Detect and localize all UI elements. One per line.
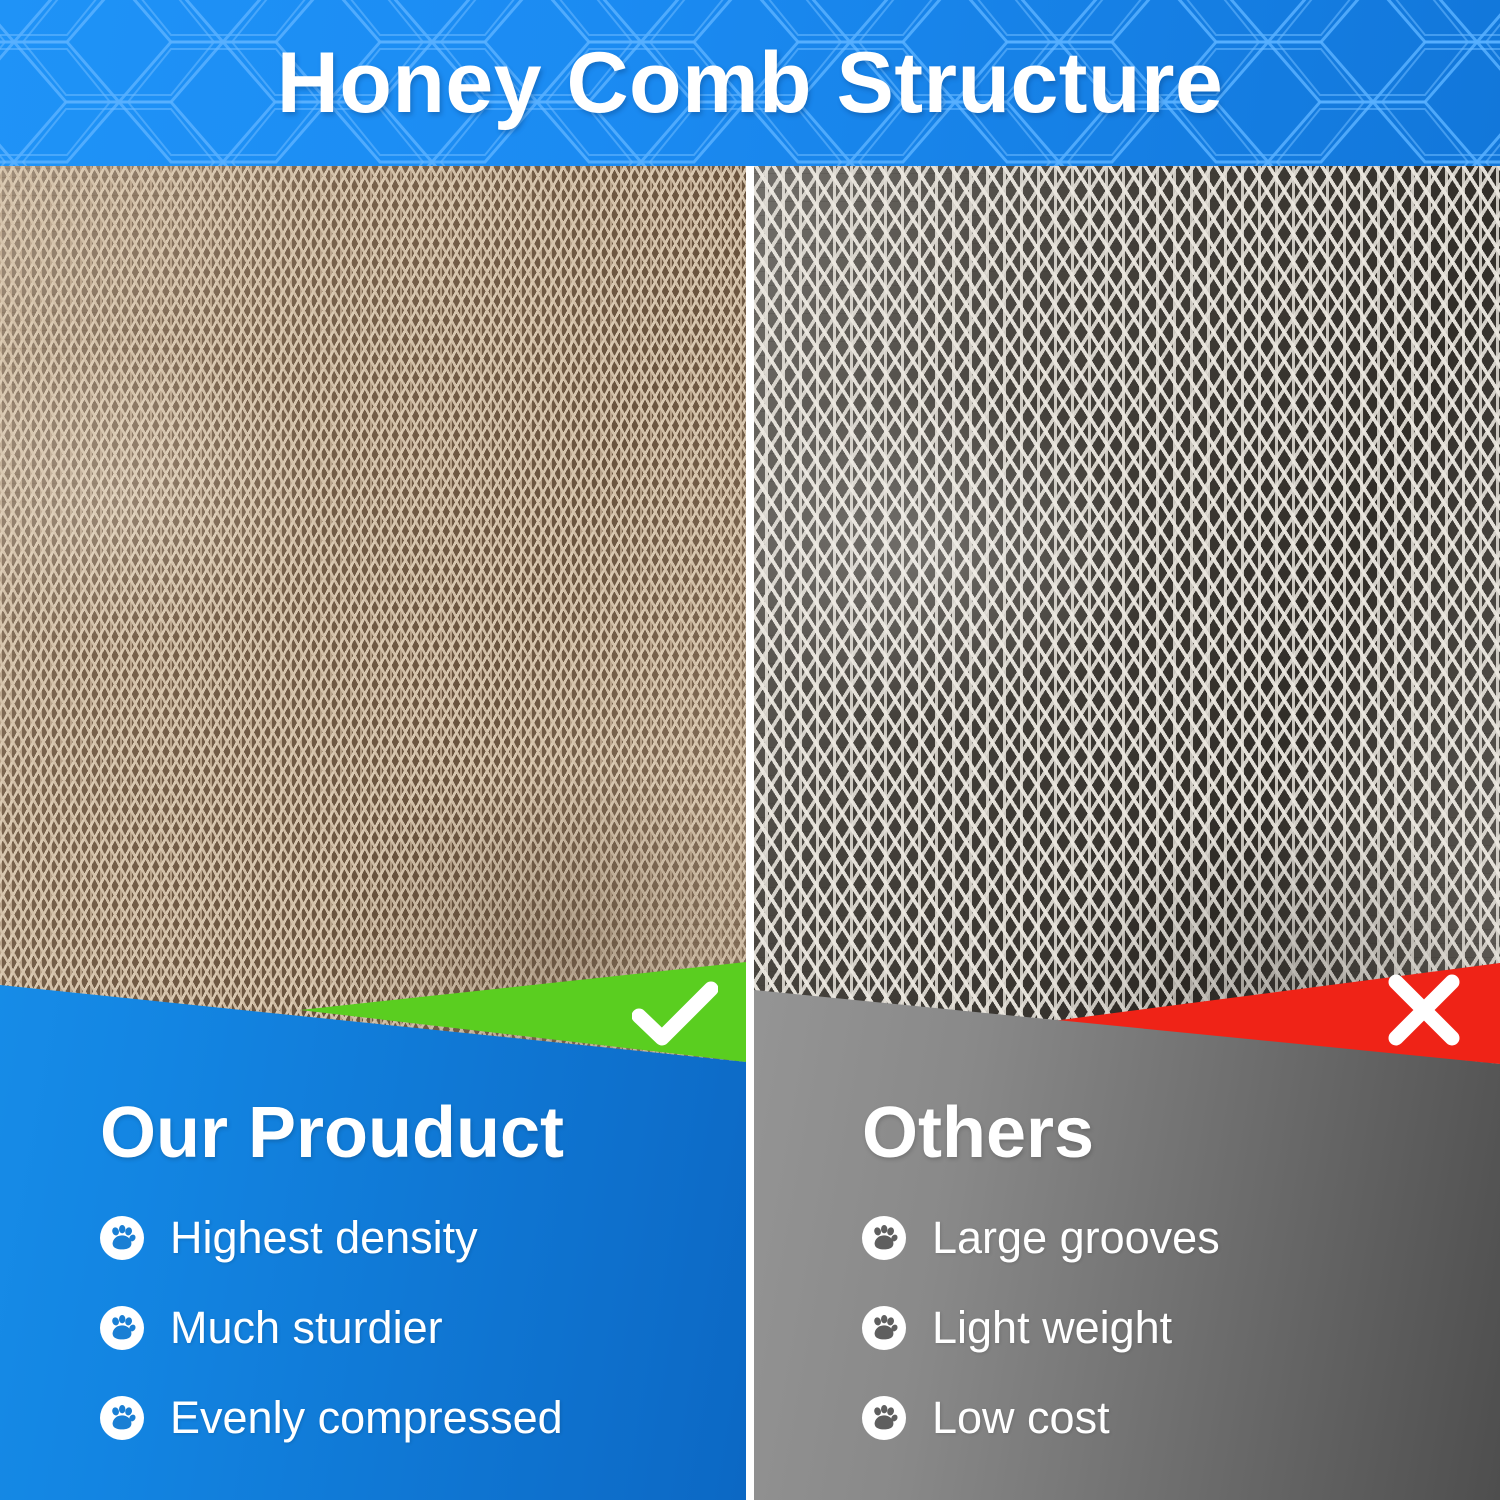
- others-feature-list: Large grooves Light weight: [862, 1212, 1472, 1444]
- list-item-label: Low cost: [932, 1392, 1110, 1444]
- check-icon: [632, 980, 718, 1050]
- list-item: Evenly compressed: [100, 1392, 720, 1444]
- list-item: Highest density: [100, 1212, 720, 1264]
- poster-header: Honey Comb Structure: [0, 0, 1500, 166]
- our-product-content: Our Prouduct Highest density: [100, 1092, 720, 1444]
- paw-icon: [862, 1396, 906, 1440]
- product-comparison-poster: Honey Comb Structure Our Prouduct: [0, 0, 1500, 1500]
- list-item: Large grooves: [862, 1212, 1472, 1264]
- paw-icon: [100, 1216, 144, 1260]
- cross-icon: [1386, 972, 1462, 1048]
- page-title: Honey Comb Structure: [0, 0, 1500, 166]
- paw-icon: [862, 1216, 906, 1260]
- list-item-label: Highest density: [170, 1212, 478, 1264]
- list-item-label: Light weight: [932, 1302, 1172, 1354]
- list-item: Low cost: [862, 1392, 1472, 1444]
- paw-icon: [100, 1396, 144, 1440]
- list-item-label: Much sturdier: [170, 1302, 443, 1354]
- others-content: Others Large grooves: [862, 1092, 1472, 1444]
- others-heading: Others: [862, 1092, 1472, 1174]
- panel-divider: [746, 166, 754, 1500]
- paw-icon: [100, 1306, 144, 1350]
- our-product-heading: Our Prouduct: [100, 1092, 720, 1174]
- paw-icon: [862, 1306, 906, 1350]
- list-item: Light weight: [862, 1302, 1472, 1354]
- list-item-label: Large grooves: [932, 1212, 1220, 1264]
- our-product-feature-list: Highest density Much sturdier: [100, 1212, 720, 1444]
- list-item-label: Evenly compressed: [170, 1392, 563, 1444]
- list-item: Much sturdier: [100, 1302, 720, 1354]
